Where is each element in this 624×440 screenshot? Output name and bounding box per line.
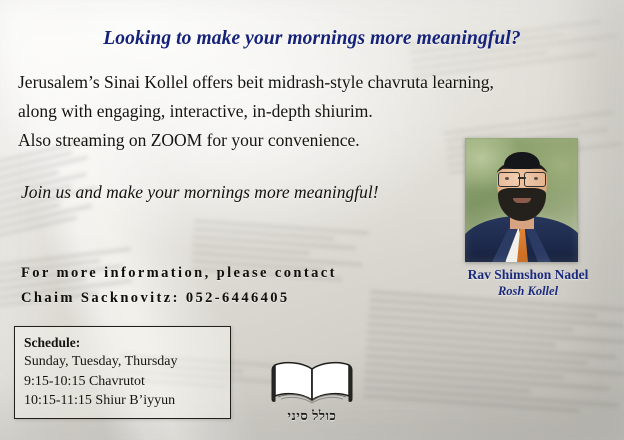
schedule-row-shiur: 10:15-11:15 Shiur B’iyyun (24, 391, 222, 411)
schedule-box: Schedule: Sunday, Tuesday, Thursday 9:15… (14, 326, 231, 419)
flyer-body: Jerusalem’s Sinai Kollel offers beit mid… (18, 68, 448, 155)
body-line-2: along with engaging, interactive, in-dep… (18, 97, 448, 126)
portrait-role: Rosh Kollel (432, 283, 624, 299)
schedule-row-days: Sunday, Tuesday, Thursday (24, 352, 222, 372)
body-line-1: Jerusalem’s Sinai Kollel offers beit mid… (18, 68, 448, 97)
schedule-row-chavrutot: 9:15-10:15 Chavrutot (24, 372, 222, 392)
kollel-logo-text: כולל סיני (262, 408, 362, 424)
flyer-headline: Looking to make your mornings more meani… (0, 28, 624, 50)
contact-block: For more information, please contact Cha… (21, 261, 337, 311)
portrait-name: Rav Shimshon Nadel (432, 266, 624, 283)
open-book-icon (262, 358, 362, 406)
body-line-3: Also streaming on ZOOM for your convenie… (18, 126, 448, 155)
portrait-caption: Rav Shimshon Nadel Rosh Kollel (432, 266, 624, 299)
flyer-canvas: Looking to make your mornings more meani… (0, 0, 624, 440)
schedule-title: Schedule: (24, 333, 222, 352)
kollel-logo: כולל סיני (262, 358, 362, 424)
contact-line-1: For more information, please contact (21, 261, 337, 286)
call-to-action: Join us and make your mornings more mean… (21, 182, 379, 203)
portrait-photo (465, 138, 578, 262)
contact-line-2: Chaim Sacknovitz: 052-6446405 (21, 286, 337, 311)
portrait-image (465, 138, 578, 262)
photo-overlay (465, 138, 578, 262)
